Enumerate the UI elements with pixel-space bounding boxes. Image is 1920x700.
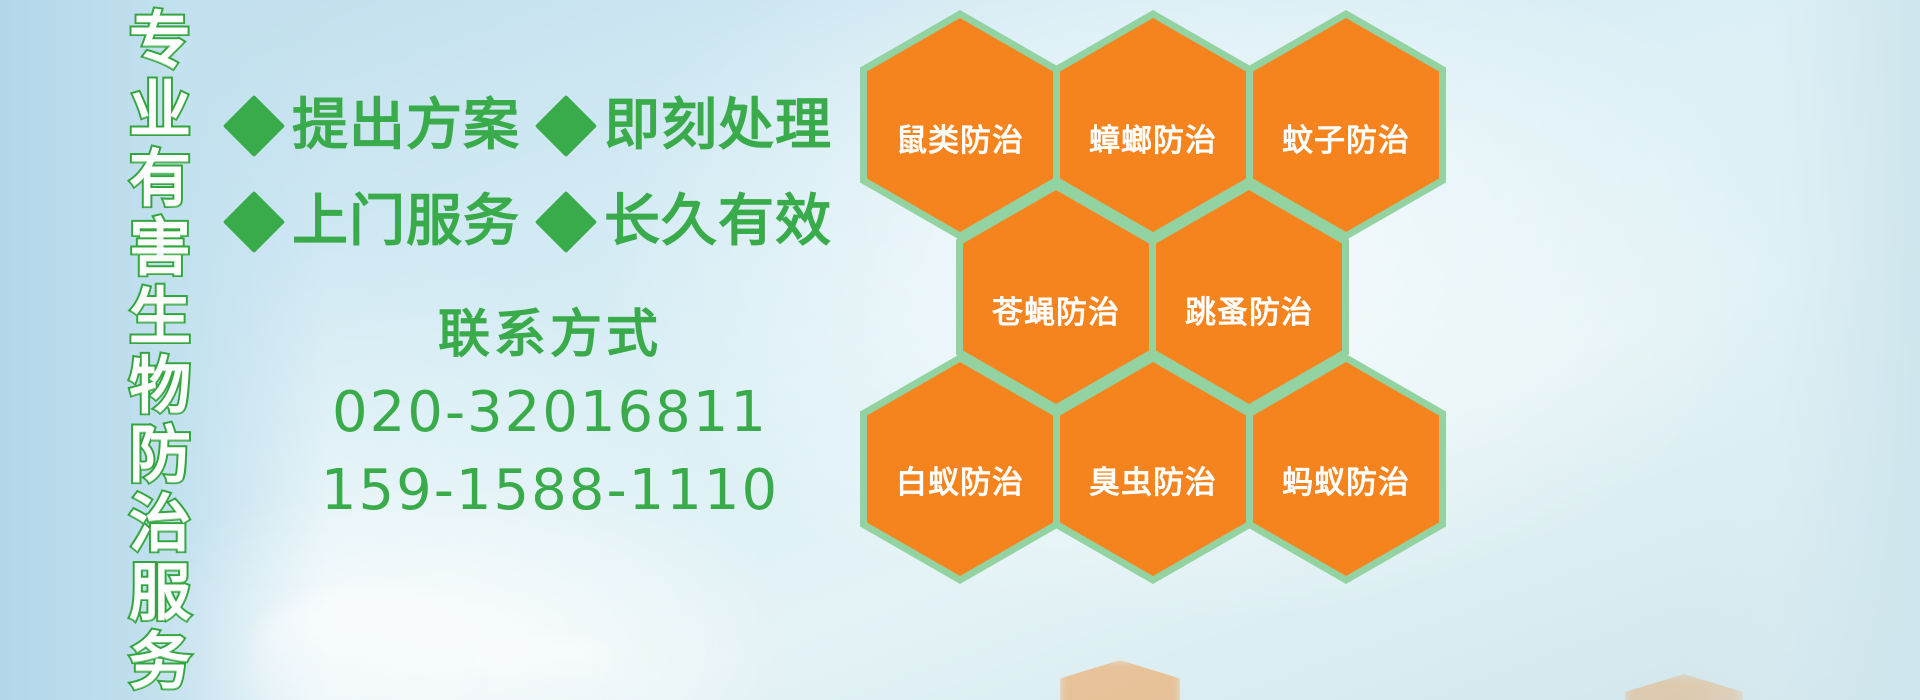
feature-label: 长久有效 [604, 193, 832, 251]
service-hexagon-label: 鼠类防治 [896, 124, 1024, 158]
feature-list: 提出方案 即刻处理 上门服务 长久有效 [232, 78, 862, 270]
service-hexagon-label: 蚊子防治 [1282, 124, 1410, 158]
background-blur-shape-left [255, 590, 485, 700]
contact-phone-mobile[interactable]: 159-1588-1110 [270, 452, 830, 530]
feature-label: 上门服务 [292, 193, 520, 251]
vertical-headline: 专 业 有 害 生 物 防 治 服 务 [108, 6, 212, 646]
background-blur-shape-center [470, 638, 620, 700]
service-hexagon-label: 跳蚤防治 [1185, 296, 1313, 330]
vertical-headline-char: 治 [129, 489, 191, 558]
vertical-headline-char: 防 [129, 420, 191, 489]
contact-block: 联系方式 020-32016811 159-1588-1110 [270, 302, 830, 530]
vertical-headline-char: 害 [129, 213, 191, 282]
diamond-bullet-icon [535, 191, 597, 253]
pest-control-service-banner: 专 业 有 害 生 物 防 治 服 务 提出方案 即刻处理 上门服务 [0, 0, 1920, 700]
diamond-bullet-icon [223, 191, 285, 253]
diamond-bullet-icon [223, 95, 285, 157]
contact-heading: 联系方式 [270, 302, 830, 368]
service-hexagon-label: 白蚁防治 [896, 466, 1024, 500]
feature-label: 即刻处理 [604, 97, 832, 155]
vertical-headline-char: 有 [129, 144, 191, 213]
background-right-gradient [1680, 0, 1920, 700]
feature-item-long-lasting: 长久有效 [544, 193, 832, 251]
vertical-headline-char: 物 [129, 351, 191, 420]
vertical-headline-char: 专 [129, 6, 191, 75]
feature-label: 提出方案 [292, 97, 520, 155]
feature-row: 上门服务 长久有效 [232, 174, 862, 270]
service-hexagon-grid: 鼠类防治 蟑螂防治 蚊子防治 苍蝇防治 跳蚤防治 白蚁防治 臭虫防治 蚂蚁 [856, 6, 1456, 554]
feature-item-immediate-handling: 即刻处理 [544, 97, 832, 155]
feature-row: 提出方案 即刻处理 [232, 78, 862, 174]
service-hexagon-label: 蟑螂防治 [1089, 124, 1217, 158]
contact-phone-landline[interactable]: 020-32016811 [270, 374, 830, 452]
service-hexagon-label: 苍蝇防治 [992, 296, 1120, 330]
vertical-headline-char: 务 [129, 627, 191, 696]
diamond-bullet-icon [535, 95, 597, 157]
feature-item-onsite-service: 上门服务 [232, 193, 520, 251]
service-hexagon-label: 臭虫防治 [1089, 466, 1217, 500]
vertical-headline-char: 服 [129, 558, 191, 627]
service-hexagon-label: 蚂蚁防治 [1282, 466, 1410, 500]
vertical-headline-char: 生 [129, 282, 191, 351]
feature-item-propose-plan: 提出方案 [232, 97, 520, 155]
vertical-headline-char: 业 [129, 75, 191, 144]
